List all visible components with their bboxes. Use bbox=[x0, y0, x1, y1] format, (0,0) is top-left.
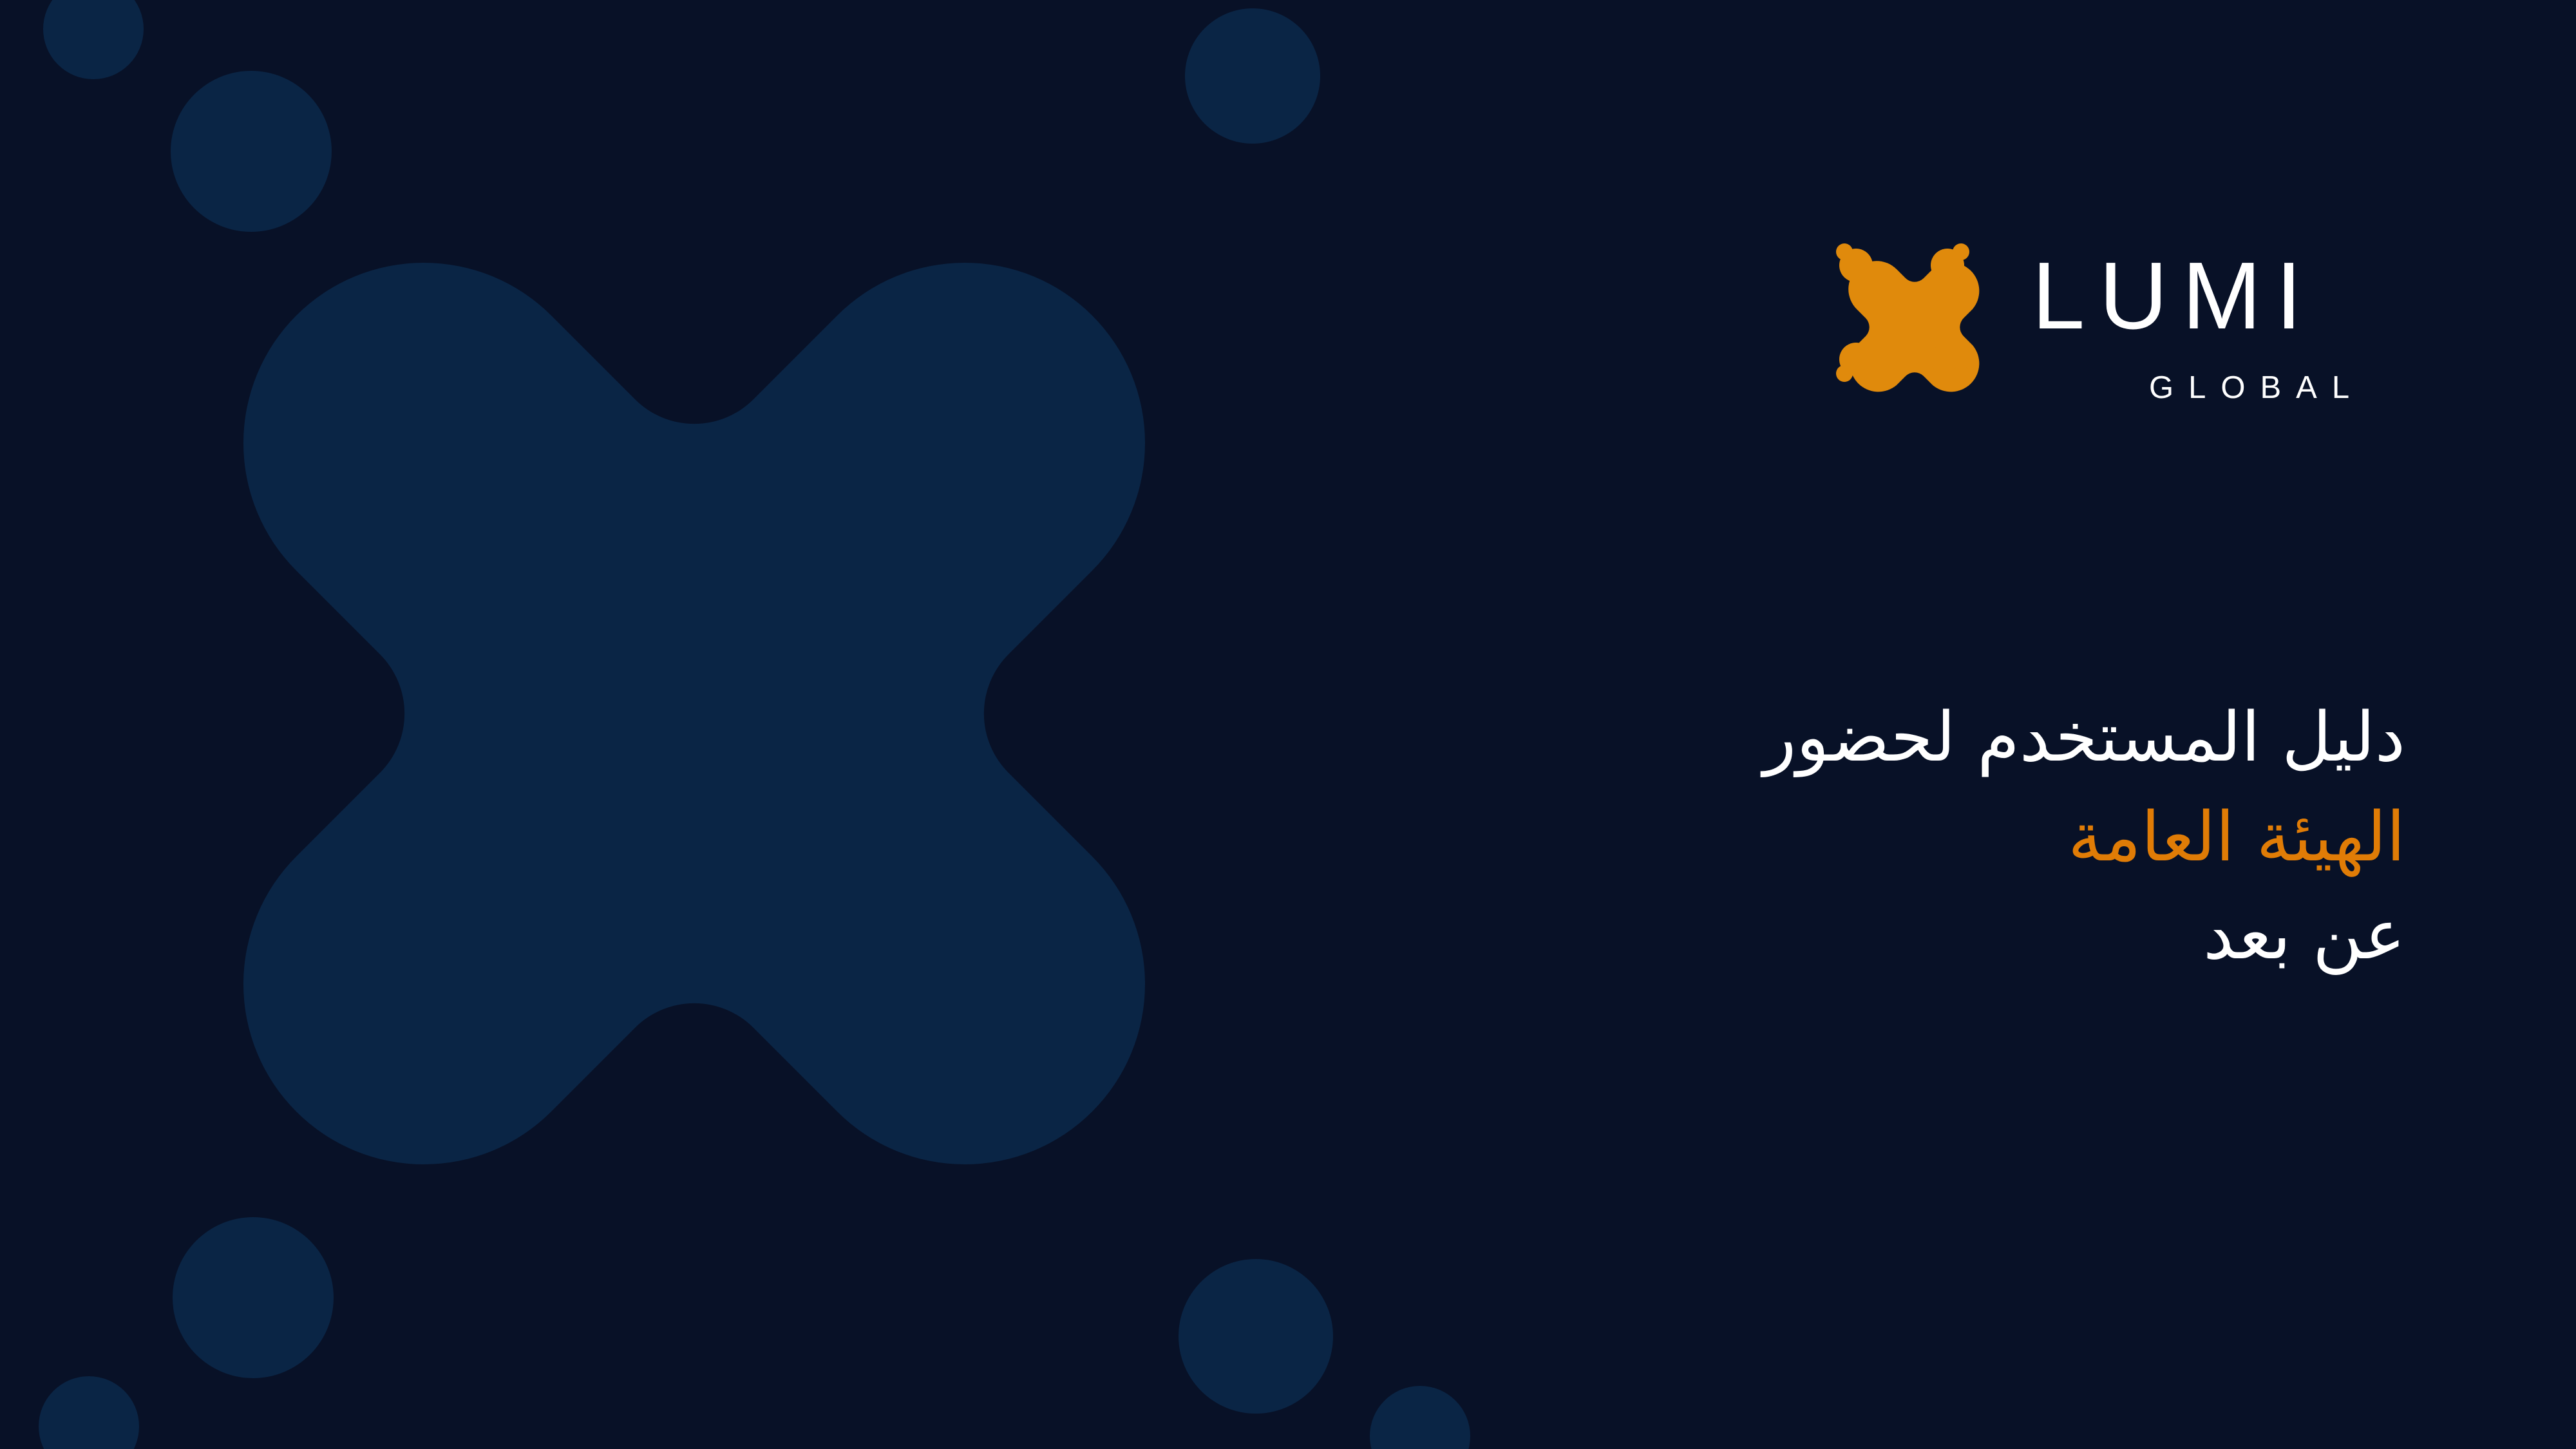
circle-bottom-left-small bbox=[39, 1376, 139, 1449]
lumi-x-watermark-icon bbox=[243, 263, 1145, 1164]
circle-bottom-left-medium bbox=[173, 1217, 334, 1378]
circle-top-left-small bbox=[43, 0, 144, 79]
title-line-2-highlight: الهيئة العامة bbox=[1439, 789, 2405, 886]
lumi-wordmark: LUMI GLOBAL bbox=[2032, 232, 2444, 431]
circle-top-left-medium bbox=[171, 71, 332, 232]
slide-title-block: دليل المستخدم لحضور الهيئة العامة عن بعد bbox=[1439, 689, 2405, 984]
wordmark-lumi-text: LUMI bbox=[2032, 249, 2316, 344]
circle-bottom-right-of-x bbox=[1179, 1259, 1333, 1414]
circle-top-right-of-x bbox=[1185, 8, 1320, 144]
wordmark-global-text: GLOBAL bbox=[2149, 372, 2364, 404]
slide-canvas: LUMI GLOBAL دليل المستخدم لحضور الهيئة ا… bbox=[0, 0, 2576, 1449]
lumi-x-mark-icon bbox=[1832, 240, 1987, 394]
lumi-global-logo: LUMI GLOBAL bbox=[1832, 232, 2450, 431]
circle-bottom-far-right bbox=[1370, 1386, 1470, 1449]
title-line-1: دليل المستخدم لحضور bbox=[1439, 689, 2405, 786]
title-line-3: عن بعد bbox=[1439, 887, 2405, 984]
